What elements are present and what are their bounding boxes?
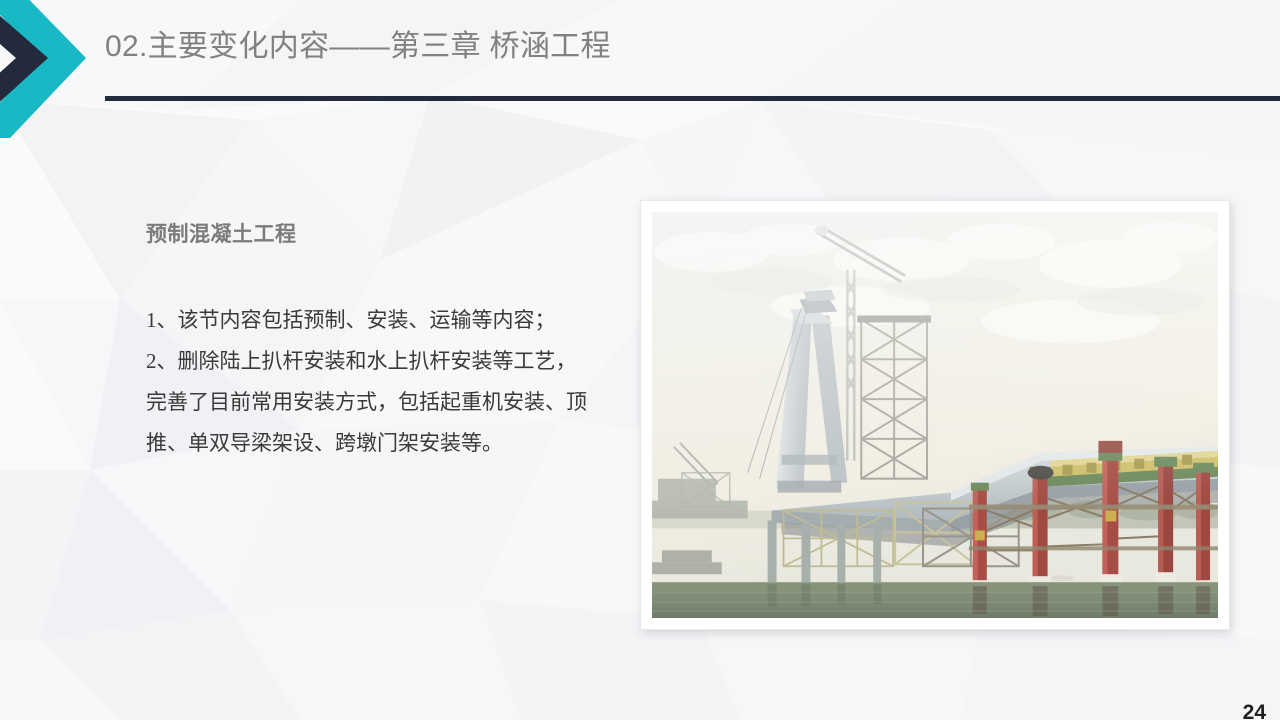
page-title-block: 02.主要变化内容——第三章 桥涵工程 [105,32,611,62]
double-chevron-right-icon [0,0,96,146]
bridge-construction-illustration [652,212,1218,618]
title-divider-rule [105,96,1280,101]
content-text-column: 预制混凝土工程 1、该节内容包括预制、安装、运输等内容； 2、删除陆上扒杆安装和… [146,218,588,464]
photo-frame [640,200,1230,630]
bridge-construction-photo [652,212,1218,618]
content-paragraph-2: 2、删除陆上扒杆安装和水上扒杆安装等工艺，完善了目前常用安装方式，包括起重机安装… [146,341,588,464]
page-number: 24 [1243,701,1266,720]
slide-canvas: 02.主要变化内容——第三章 桥涵工程 预制混凝土工程 1、该节内容包括预制、安… [0,0,1280,720]
content-heading: 预制混凝土工程 [146,218,588,248]
page-title: 02.主要变化内容——第三章 桥涵工程 [105,32,611,62]
content-paragraph-1: 1、该节内容包括预制、安装、运输等内容； [146,300,588,341]
